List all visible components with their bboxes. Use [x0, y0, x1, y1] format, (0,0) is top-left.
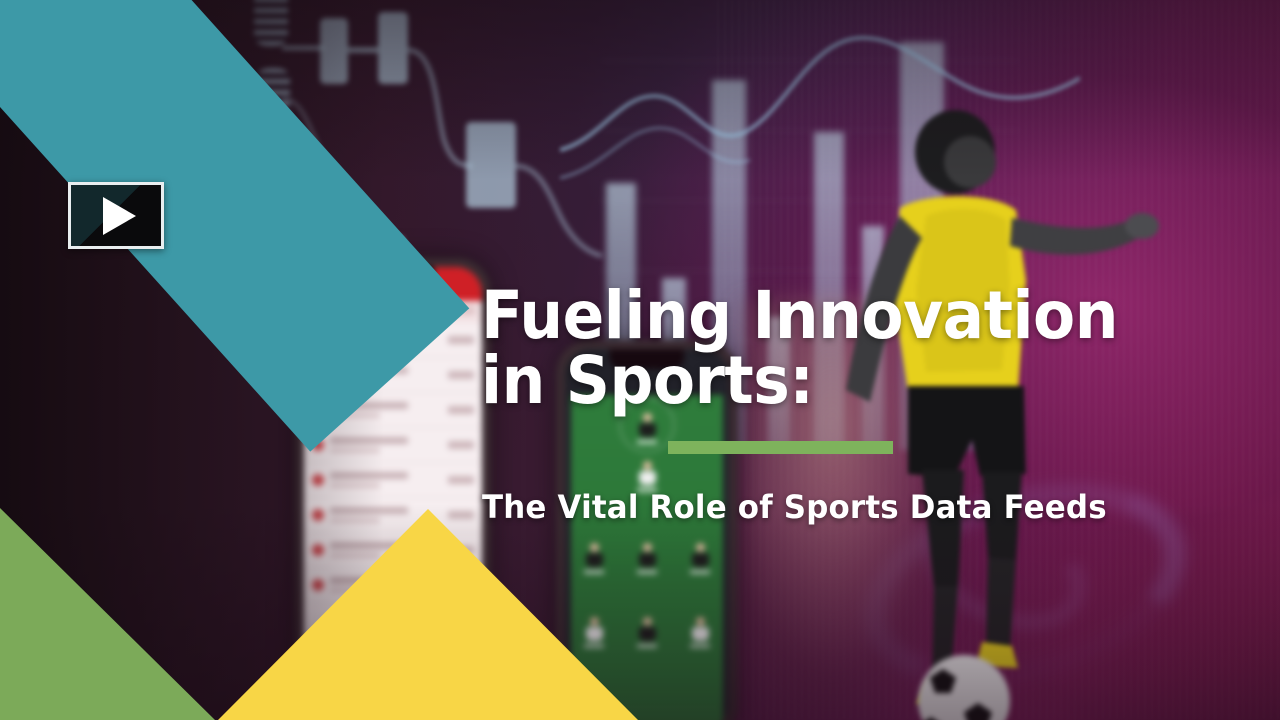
page-subtitle: The Vital Role of Sports Data Feeds	[482, 488, 1215, 526]
title-divider	[668, 441, 893, 454]
play-button[interactable]	[68, 182, 164, 249]
presentation-slide: Fueling Innovation in Sports: The Vital …	[0, 0, 1280, 720]
page-title: Fueling Innovation in Sports:	[481, 283, 1132, 414]
play-icon	[103, 197, 136, 235]
